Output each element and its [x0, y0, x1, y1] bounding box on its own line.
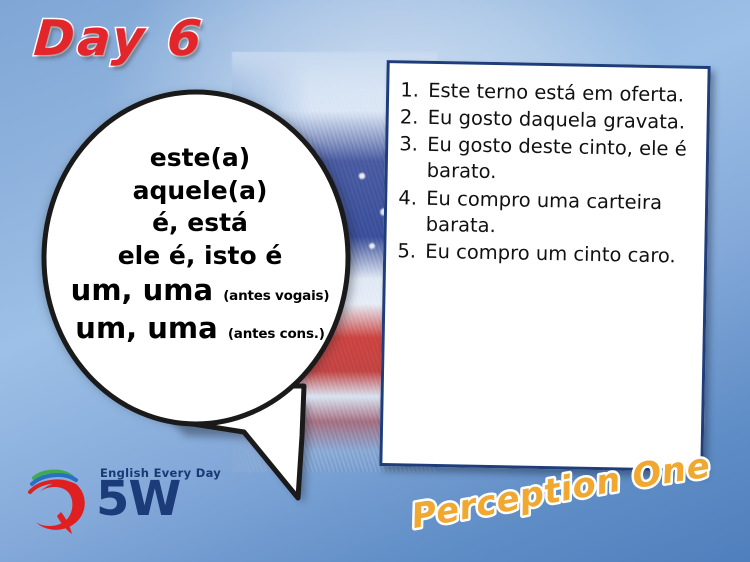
slide-canvas: Day 6 este(a) aquele(a) é, está ele é, i… [0, 0, 750, 562]
footer-brand: Perception One Perception One [408, 472, 708, 542]
bubble-line-5: um, uma (antes vogais) [50, 272, 350, 310]
list-item: Eu compro um cinto caro. [422, 239, 694, 270]
brand-logo: English Every Day 5W [18, 462, 208, 546]
bubble-line-6: um, uma (antes cons.) [50, 310, 350, 348]
speech-bubble: este(a) aquele(a) é, está ele é, isto é … [36, 86, 366, 506]
bubble-line-1: este(a) [50, 142, 350, 175]
bubble-line-6-note: (antes cons.) [228, 326, 325, 342]
list-item: Eu compro uma carteira barata. [423, 185, 696, 242]
bubble-line-3: é, está [50, 207, 350, 240]
sentence-list: Este terno está em oferta. Eu gosto daqu… [386, 63, 708, 270]
logo-wordmark: 5W [96, 475, 180, 523]
q-swoosh-icon [18, 464, 96, 542]
bubble-line-5-note: (antes vogais) [223, 288, 329, 304]
list-item: Eu gosto deste cinto, ele é barato. [423, 132, 696, 189]
list-item: Eu gosto daquela gravata. [424, 105, 696, 136]
page-title: Day 6 [32, 10, 206, 67]
speech-bubble-text: este(a) aquele(a) é, está ele é, isto é … [50, 142, 350, 347]
sentence-list-box: Este terno está em oferta. Eu gosto daqu… [379, 60, 710, 472]
footer-brand-art: Perception One Perception One [408, 472, 708, 542]
bubble-line-2: aquele(a) [50, 175, 350, 208]
bubble-line-4: ele é, isto é [50, 240, 350, 273]
list-item: Este terno está em oferta. [425, 78, 697, 109]
